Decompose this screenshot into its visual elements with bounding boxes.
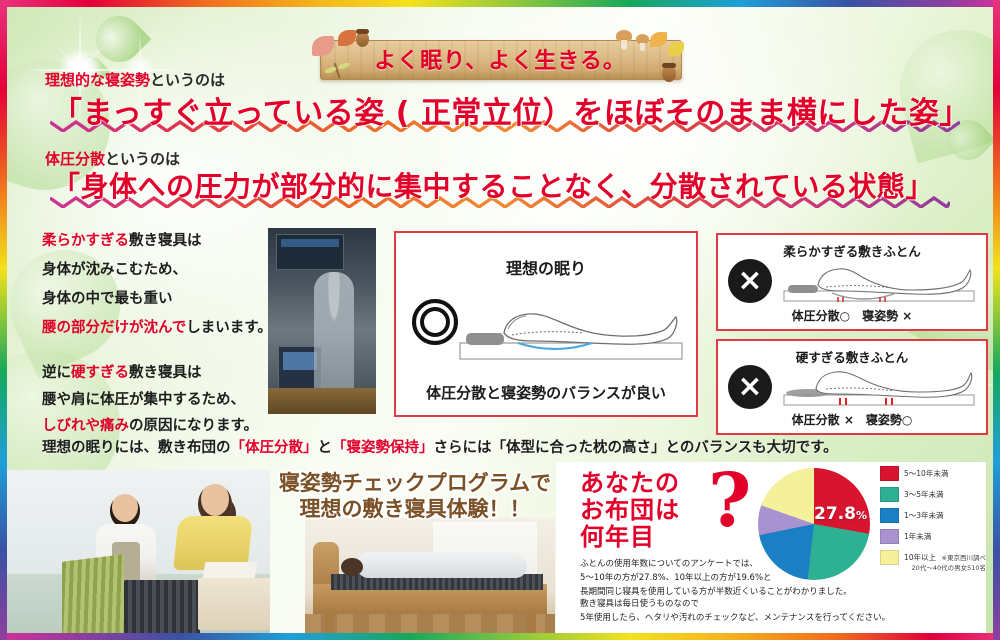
sleeping-person-head xyxy=(341,558,363,576)
good-circle-mark-icon xyxy=(412,299,458,345)
headline-1: 「まっすぐ立っている姿 ( 正常立位）をほぼそのまま横にした姿」 xyxy=(52,88,970,132)
program-title-line-1: 寝姿勢チェックプログラムで xyxy=(270,470,560,496)
summary-highlight-1: 「体圧分散」 xyxy=(231,440,318,456)
survey-question-line-3: 何年目 xyxy=(580,524,680,551)
mattress-pad-green xyxy=(62,554,124,640)
ideal-sleep-caption: 体圧分散と寝姿勢のバランスが良い xyxy=(396,382,696,403)
legend-swatch xyxy=(880,466,899,481)
summary-highlight-2: 「寝姿勢保持」 xyxy=(332,440,434,456)
lead-line-1: 理想的な寝姿勢というのは xyxy=(45,69,225,90)
legend-label: 1年未満 xyxy=(904,531,931,542)
pie-highlight-unit: % xyxy=(856,509,867,522)
lead-1-highlight: 理想的な寝姿勢 xyxy=(45,71,150,89)
left-text-7-rest: の原因になります。 xyxy=(129,418,258,434)
summary-part-1: 理想の眠りには、敷き布団の xyxy=(42,440,231,456)
legend-label: 1〜3年未満 xyxy=(904,510,944,521)
store-photo xyxy=(268,228,376,414)
program-title-line-2: 理想の敷き寝具体験！！ xyxy=(270,496,560,522)
store-floor xyxy=(268,388,376,414)
survey-question-line-1: あなたの xyxy=(580,470,680,497)
left-text-5-rest: 敷き寝具は xyxy=(129,365,202,381)
rainbow-border-top xyxy=(0,0,1000,7)
survey-question-line-2: お布団は xyxy=(580,497,680,524)
legend-row: 3〜5年未満 xyxy=(880,487,980,502)
left-text-line-3: 身体の中で最も重い xyxy=(42,287,173,308)
ideal-posture-figure xyxy=(456,281,686,367)
pie-highlight-label: 27.8% xyxy=(814,504,867,524)
too-hard-posture-figure xyxy=(780,361,978,409)
survey-body-text-2: 敷き寝具は毎日使うものなので 5年使用したら、ヘタリや汚れのチェックなど、メンテ… xyxy=(580,598,890,626)
survey-note: ※東京西川調べ 20代〜40代の男女510名 xyxy=(874,554,986,574)
legend-swatch xyxy=(880,487,899,502)
left-text-1-rest: 敷き寝具は xyxy=(129,233,202,249)
summary-part-3: さらには「体型に合った枕の高さ」とのバランスも大切です。 xyxy=(434,440,838,456)
legend-row: 1年未満 xyxy=(880,529,980,544)
sleeping-person-figure xyxy=(357,552,527,578)
left-text-line-1: 柔らかすぎる敷き寝具は xyxy=(42,229,202,250)
too-soft-futon-box: 柔らかすぎる敷きふとん × 体圧分散○ 寝姿勢 × xyxy=(716,233,988,331)
left-text-line-6: 腰や肩に体圧が集中するため、 xyxy=(42,388,245,409)
wooden-banner: よく眠り、よく生きる。 xyxy=(320,36,680,82)
too-soft-posture-figure xyxy=(780,257,978,305)
left-text-4-highlight: 腰の部分だけが沈んで xyxy=(42,320,186,336)
survey-panel: あなたの お布団は 何年目 ? 27.8% 5〜10年未満3〜5年未満1〜3年未… xyxy=(556,462,986,634)
mattress-pad-cream xyxy=(198,578,270,630)
too-hard-futon-box: 硬すぎる敷きふとん × 体圧分散 × 寝姿勢○ xyxy=(716,339,988,435)
legend-swatch xyxy=(880,508,899,523)
legend-row: 5〜10年未満 xyxy=(880,466,980,481)
legend-swatch xyxy=(880,529,899,544)
left-text-line-7: しびれや痛みの原因になります。 xyxy=(42,414,258,435)
bed-trial-photo xyxy=(305,518,555,640)
rainbow-border-bottom xyxy=(0,633,1000,640)
pie-highlight-value: 27.8 xyxy=(814,504,856,524)
cross-mark-icon: × xyxy=(728,365,772,409)
legend-label: 5〜10年未満 xyxy=(904,468,948,479)
too-hard-caption: 体圧分散 × 寝姿勢○ xyxy=(718,411,986,428)
program-title: 寝姿勢チェックプログラムで 理想の敷き寝具体験！！ xyxy=(270,470,560,523)
ideal-sleep-diagram-box: 理想の眠り 体圧分散と寝姿勢のバランスが良い xyxy=(394,231,698,417)
left-text-4-rest: しまいます。 xyxy=(186,320,272,336)
ideal-sleep-title: 理想の眠り xyxy=(396,255,696,279)
left-text-7-highlight: しびれや痛み xyxy=(42,418,129,434)
fitting-session-photo xyxy=(0,470,270,640)
staff-head xyxy=(110,494,140,528)
infographic-canvas: よく眠り、よく生きる。 理想的な寝姿勢というのは 「まっすぐ立っている姿 ( 正… xyxy=(0,0,1000,640)
too-soft-caption: 体圧分散○ 寝姿勢 × xyxy=(718,307,986,324)
left-text-line-2: 身体が沈みこむため、 xyxy=(42,258,187,279)
cross-mark-icon: × xyxy=(728,259,772,303)
lead-1-rest: というのは xyxy=(150,71,225,89)
left-text-5-pre: 逆に xyxy=(42,365,71,381)
mattress-pad-dark xyxy=(124,580,200,638)
survey-body-text: ふとんの使用年数についてのアンケートでは、 5〜10年の方が27.8%、10年以… xyxy=(580,558,852,599)
legend-label: 3〜5年未満 xyxy=(904,489,944,500)
left-text-1-highlight: 柔らかすぎる xyxy=(42,233,129,249)
left-text-line-5: 逆に硬すぎる敷き寝具は xyxy=(42,361,202,382)
left-text-line-4: 腰の部分だけが沈んでしまいます。 xyxy=(42,316,272,337)
summary-line: 理想の眠りには、敷き布団の「体圧分散」と「寝姿勢保持」さらには「体型に合った枕の… xyxy=(42,436,838,457)
store-display-panel xyxy=(276,234,344,270)
banner-text: よく眠り、よく生きる。 xyxy=(320,40,680,78)
headline-2: 「身体への圧力が部分的に集中することなく、分散されている状態」 xyxy=(52,165,934,205)
rainbow-border-right xyxy=(993,0,1000,640)
left-text-5-highlight: 硬すぎる xyxy=(71,365,129,381)
question-mark-icon: ? xyxy=(708,468,751,535)
survey-question: あなたの お布団は 何年目 xyxy=(580,470,680,551)
body-silhouette-figure xyxy=(314,272,354,400)
rainbow-border-left xyxy=(0,0,7,640)
summary-part-2: と xyxy=(318,440,333,456)
legend-row: 1〜3年未満 xyxy=(880,508,980,523)
